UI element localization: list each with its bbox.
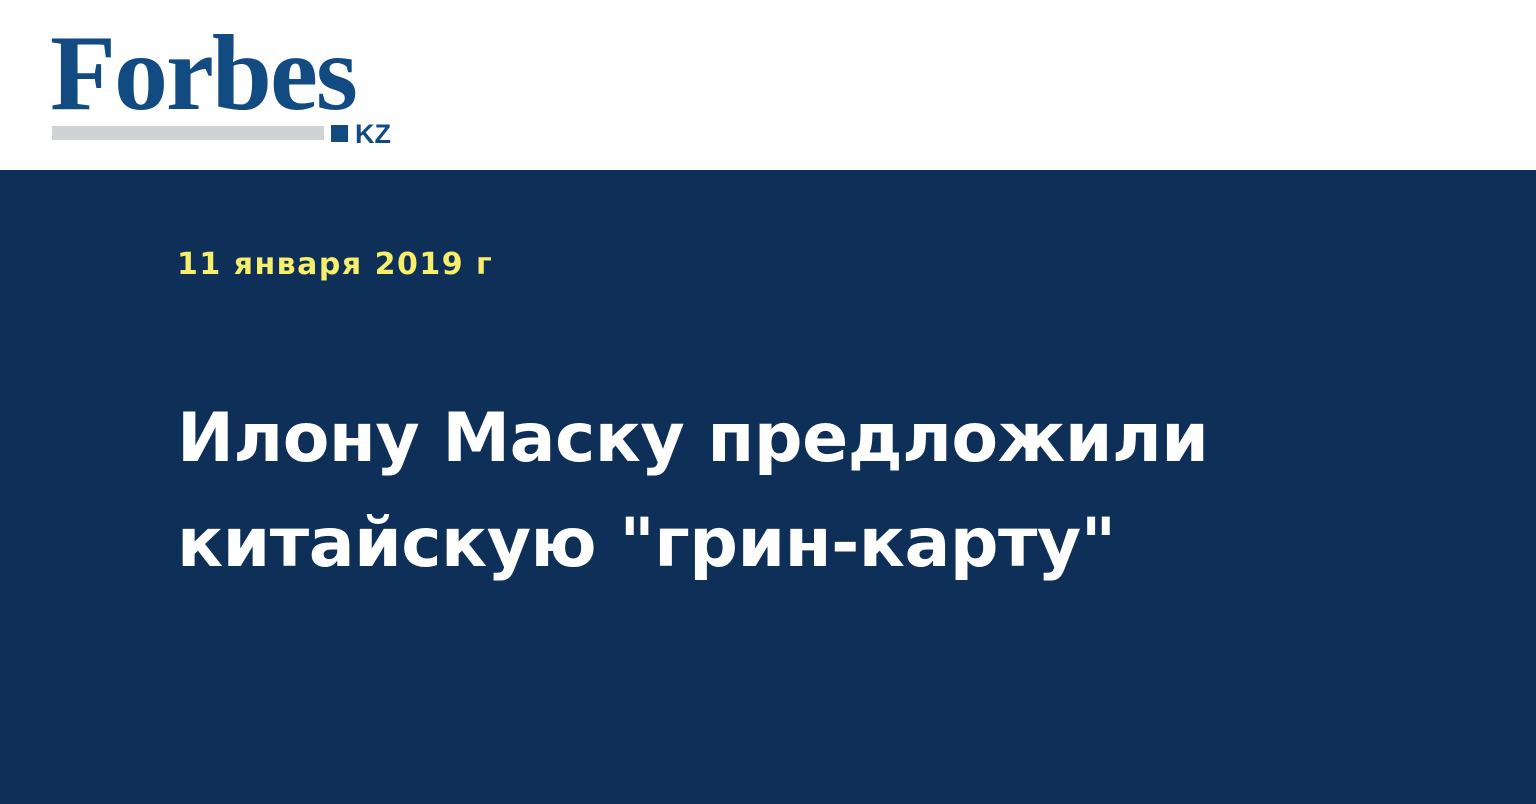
article-publish-date: 11 января 2019 г	[177, 248, 493, 282]
article-headline-line: Илону Маску предложили	[177, 386, 1187, 491]
logo-wordmark-forbes: Forbes	[50, 22, 356, 126]
forbes-kz-logo[interactable]: Forbes kz	[50, 22, 420, 147]
logo-underline-bar	[52, 126, 324, 140]
logo-square-bullet-icon	[331, 125, 348, 142]
article-headline-line: китайскую "грин-карту"	[177, 491, 1187, 596]
article-hero-page: Forbes kz 11 января 2019 г Илону Маску п…	[0, 0, 1536, 804]
logo-suffix-kz: kz	[355, 121, 391, 148]
site-header: Forbes kz	[0, 0, 1536, 170]
article-headline: Илону Маску предложили китайскую "грин-к…	[177, 386, 1187, 596]
